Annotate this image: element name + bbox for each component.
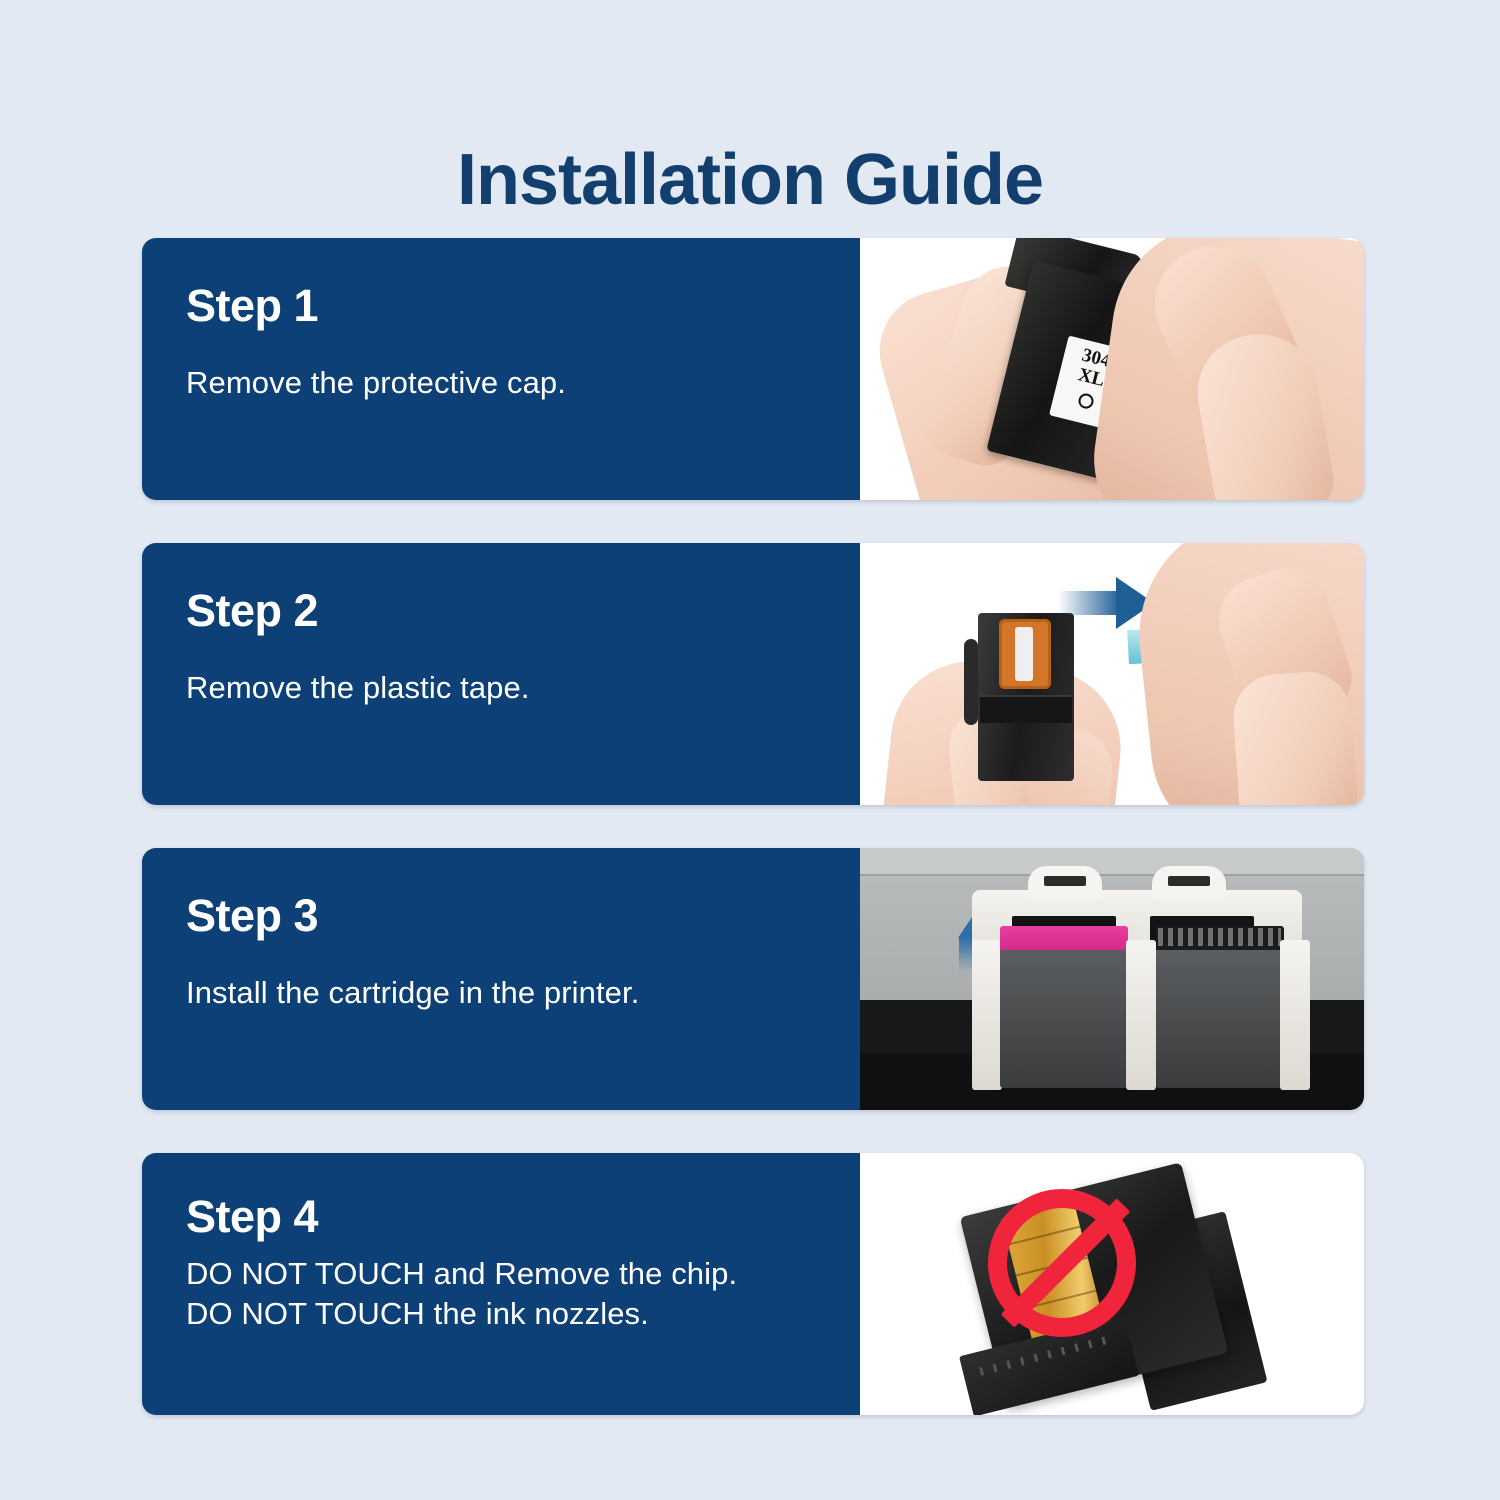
ink-nozzle-area <box>999 619 1051 689</box>
step-4-title: Step 4 <box>186 1193 858 1240</box>
step-1-image: 304 XL <box>858 238 1364 500</box>
step-3-description: Install the cartridge in the printer. <box>186 973 858 1013</box>
step-card-3: Step 3 Install the cartridge in the prin… <box>142 848 1364 1110</box>
step-card-1: Step 1 Remove the protective cap. 304 XL <box>142 238 1364 500</box>
step-card-4: Step 4 DO NOT TOUCH and Remove the chip.… <box>142 1153 1364 1415</box>
step-1-title: Step 1 <box>186 282 858 329</box>
carriage-clip-2 <box>1126 940 1156 1090</box>
cartridge-contact-bar <box>980 695 1072 723</box>
step-2-image: PULL <box>858 543 1364 805</box>
step-1-text-panel: Step 1 Remove the protective cap. <box>142 238 858 500</box>
step-2-description: Remove the plastic tape. <box>186 668 858 708</box>
step-card-2: Step 2 Remove the plastic tape. <box>142 543 1364 805</box>
printer-top-rail <box>860 848 1364 876</box>
black-ink-cartridge <box>1156 948 1284 1088</box>
carriage-latch-right[interactable] <box>1152 866 1226 900</box>
step-3-image <box>858 848 1364 1110</box>
step-3-title: Step 3 <box>186 892 858 939</box>
page-title: Installation Guide <box>0 144 1500 216</box>
step-1-description: Remove the protective cap. <box>186 363 858 403</box>
black-ink-dot-icon <box>1076 392 1094 410</box>
carriage-clip-3 <box>1280 940 1310 1090</box>
step-4-image <box>858 1153 1364 1415</box>
step-3-text-panel: Step 3 Install the cartridge in the prin… <box>142 848 858 1110</box>
step-2-text-panel: Step 2 Remove the plastic tape. <box>142 543 858 805</box>
color-ink-cartridge <box>1000 948 1128 1088</box>
installation-guide-page: Installation Guide Step 1 Remove the pro… <box>0 0 1500 1500</box>
step-4-text-panel: Step 4 DO NOT TOUCH and Remove the chip.… <box>142 1153 858 1415</box>
cartridge-teeth <box>1158 928 1281 946</box>
step-2-title: Step 2 <box>186 587 858 634</box>
carriage-clip-1 <box>972 940 1002 1090</box>
magenta-cartridge-cap <box>1000 926 1128 950</box>
cartridge-post <box>964 639 978 725</box>
step-4-description: DO NOT TOUCH and Remove the chip. DO NOT… <box>186 1254 858 1333</box>
carriage-latch-left[interactable] <box>1028 866 1102 900</box>
steps-list: Step 1 Remove the protective cap. 304 XL <box>142 238 1364 1458</box>
right-thumb <box>1231 669 1360 805</box>
